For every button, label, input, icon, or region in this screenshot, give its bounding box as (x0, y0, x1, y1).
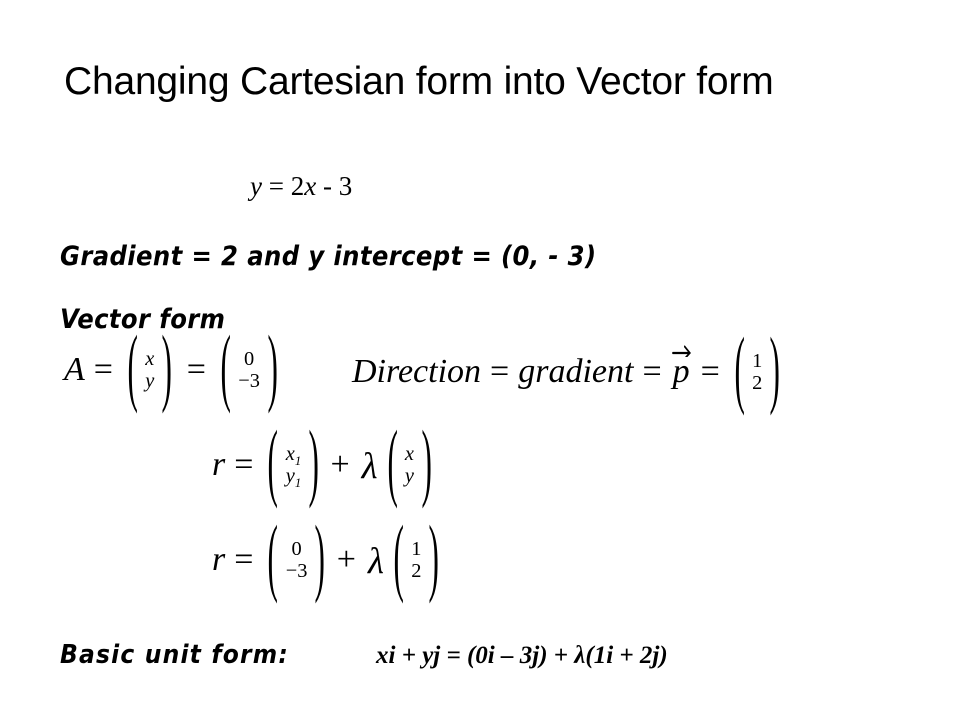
vector-component-top: 1 (752, 350, 762, 372)
paren-close-icon: ) (421, 429, 431, 502)
vector-component-bottom: 2 (752, 372, 762, 394)
equation-r-equals: = (225, 446, 262, 484)
cartesian-constant: 3 (339, 171, 353, 201)
subscript: 1 (295, 476, 301, 490)
column-vector-1-2: ( 1 2 ) (390, 538, 443, 583)
gradient-word: gradient (518, 353, 633, 391)
equation-r-general: r = ( x1 y1 ) + λ ( x y ) (212, 443, 437, 488)
vector-component-top: x1 (286, 443, 301, 465)
vector-component-top: 1 (411, 538, 421, 560)
equation-r-plus: + (324, 446, 355, 484)
equation-r-equals: = (225, 541, 262, 579)
column-vector-x1-y1: ( x1 y1 ) (264, 443, 322, 488)
cartesian-lhs: y (250, 171, 262, 201)
equation-r-symbol: r (212, 541, 225, 579)
column-vector-0-minus3: ( 0 −3 ) (217, 348, 281, 393)
vector-component-top: x (405, 443, 414, 465)
paren-close-icon: ) (770, 336, 780, 409)
lambda-symbol: λ (362, 539, 388, 582)
vector-component-bottom: 2 (411, 560, 421, 582)
vector-component-bottom: y (145, 370, 154, 392)
vector-p-symbol: p (671, 353, 692, 391)
paren-close-icon: ) (315, 524, 325, 597)
paren-close-icon: ) (429, 524, 439, 597)
equation-vector-A: A = ( x y ) = ( 0 −3 ) (64, 348, 283, 393)
direction-equals-2: = (633, 353, 670, 391)
vector-component-bottom: −3 (286, 560, 308, 582)
equation-A-equals-2: = (178, 351, 215, 389)
vector-component-top: 0 (244, 348, 254, 370)
column-vector-body: x y (141, 348, 158, 393)
column-vector-body: 0 −3 (234, 348, 264, 393)
slide-canvas: Changing Cartesian form into Vector form… (0, 0, 960, 720)
basic-unit-form-formula: xi + yj = (0i – 3j) + λ(1i + 2j) (376, 641, 668, 671)
equation-A-equals-1: = (85, 351, 122, 389)
equation-r-symbol: r (212, 446, 225, 484)
column-vector-body: x1 y1 (282, 443, 305, 488)
paren-open-icon: ( (734, 336, 744, 409)
column-vector-1-2: ( 1 2 ) (731, 350, 784, 395)
vector-form-heading: Vector form (60, 303, 225, 337)
column-vector-0-minus3: ( 0 −3 ) (264, 538, 328, 583)
paren-open-icon: ( (393, 524, 403, 597)
page-title: Changing Cartesian form into Vector form (64, 58, 924, 106)
column-vector-body: x y (401, 443, 418, 488)
column-vector-xy: ( x y ) (384, 443, 436, 488)
vector-component-top: 0 (292, 538, 302, 560)
paren-open-icon: ( (127, 334, 137, 407)
column-vector-body: 1 2 (407, 538, 425, 583)
vector-p-letter: p (673, 353, 690, 390)
vector-component-top: x (145, 348, 154, 370)
paren-close-icon: ) (309, 429, 319, 502)
paren-open-icon: ( (387, 429, 397, 502)
cartesian-equation: y = 2x - 3 (250, 170, 352, 202)
direction-equals-1: = (481, 353, 518, 391)
paren-open-icon: ( (220, 334, 230, 407)
cartesian-equals: = (262, 171, 291, 201)
vector-component-bottom: y1 (286, 465, 301, 487)
column-vector-xy: ( x y ) (124, 348, 176, 393)
equation-r-values: r = ( 0 −3 ) + λ ( 1 2 ) (212, 538, 445, 583)
cartesian-coefficient: 2 (291, 171, 305, 201)
lambda-symbol: λ (356, 444, 382, 487)
paren-open-icon: ( (268, 524, 278, 597)
vector-component-bottom: −3 (238, 370, 260, 392)
column-vector-body: 1 2 (748, 350, 766, 395)
paren-open-icon: ( (268, 429, 278, 502)
equation-r-plus: + (331, 541, 362, 579)
direction-equals-3: = (692, 353, 729, 391)
direction-word: Direction (352, 353, 481, 391)
gradient-intercept-text: Gradient = 2 and y intercept = (0, - 3) (60, 240, 596, 274)
equation-A-symbol: A (64, 351, 85, 389)
equation-direction-gradient: Direction = gradient = p = ( 1 2 ) (352, 350, 786, 395)
cartesian-minus: - (316, 171, 339, 201)
cartesian-variable: x (304, 171, 316, 201)
paren-close-icon: ) (267, 334, 277, 407)
basic-unit-form-label: Basic unit form: (60, 638, 289, 672)
column-vector-body: 0 −3 (282, 538, 312, 583)
vector-component-bottom: y (405, 465, 414, 487)
paren-close-icon: ) (162, 334, 172, 407)
